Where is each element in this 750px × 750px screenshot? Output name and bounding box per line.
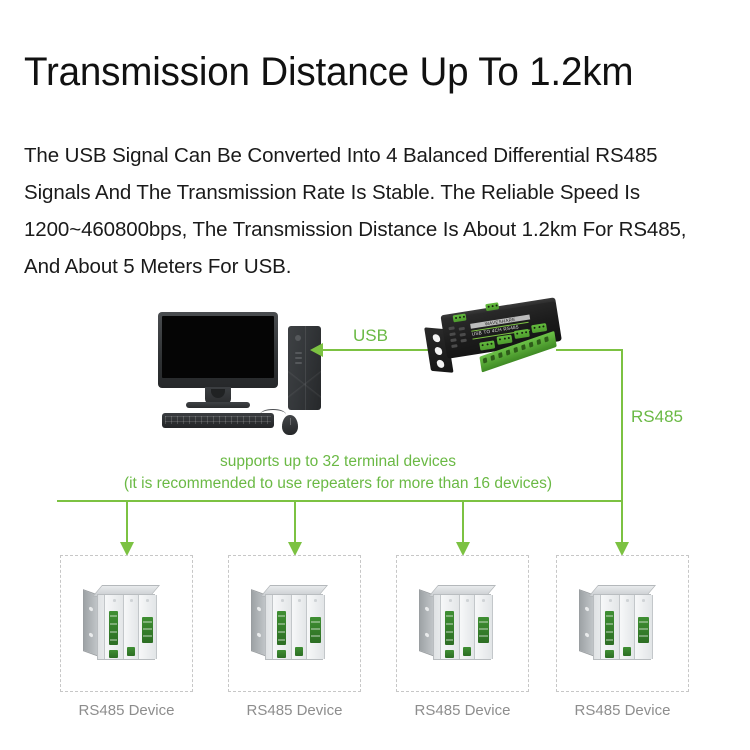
rs485-bus-line: [57, 500, 623, 502]
page-title: Transmission Distance Up To 1.2km: [24, 48, 709, 96]
module-front-face: [593, 594, 651, 660]
bus-note-line-2: (it is recommended to use repeaters for …: [58, 473, 618, 495]
device-box-2: [228, 555, 361, 692]
pc-tower-icon: [288, 326, 321, 410]
rs485-label: RS485: [631, 407, 683, 427]
module-card-1: [600, 595, 621, 659]
device-drop-wire-4: [621, 500, 623, 544]
tower-port-2: [295, 357, 302, 359]
module-connector-green-3: [463, 647, 471, 656]
module-card-3: [634, 595, 653, 659]
module-connector-green-4: [310, 617, 321, 643]
paragraph-line-2: Signals And The Transmission Rate Is Sta…: [24, 174, 740, 211]
module-card-1: [272, 595, 293, 659]
module-screw: [146, 599, 149, 602]
module-card-1: [440, 595, 461, 659]
module-screw: [466, 599, 469, 602]
module-connector-green-1: [605, 611, 614, 645]
device-drop-arrow-3: [456, 542, 470, 556]
device-caption-3: RS485 Device: [396, 702, 529, 719]
module-connector-green-2: [605, 650, 614, 658]
monitor-icon: [158, 312, 278, 388]
keyboard-keys: [165, 416, 271, 424]
module-front-face: [433, 594, 491, 660]
rs485-wire-vertical: [621, 349, 623, 501]
rs485-wire-top: [556, 349, 623, 351]
device-drop-wire-2: [294, 500, 296, 544]
device-caption-4: RS485 Device: [556, 702, 689, 719]
device-caption-1: RS485 Device: [60, 702, 193, 719]
module-connector-green-3: [127, 647, 135, 656]
usb-arrow-icon: [310, 343, 323, 357]
module-connector-green-1: [277, 611, 286, 645]
paragraph-line-4: And About 5 Meters For USB.: [24, 248, 740, 285]
computer-illustration: [148, 312, 323, 427]
monitor-screen: [162, 316, 274, 378]
device-box-3: [396, 555, 529, 692]
module-screw: [609, 599, 612, 602]
module-connector-green-1: [445, 611, 454, 645]
module-card-3: [138, 595, 157, 659]
module-connector-green-4: [142, 617, 153, 643]
bus-note-line-1: supports up to 32 terminal devices: [58, 451, 618, 473]
usb-wire: [322, 349, 432, 351]
module-screw: [626, 599, 629, 602]
usb-label: USB: [353, 326, 388, 346]
module-screw: [298, 599, 301, 602]
device-drop-wire-1: [126, 500, 128, 544]
module-card-3: [306, 595, 325, 659]
module-front-face: [97, 594, 155, 660]
tower-chevron-detail: [288, 368, 321, 402]
module-connector-green-2: [277, 650, 286, 658]
tower-power-led: [295, 335, 301, 341]
mouse-icon: [282, 415, 298, 435]
device-caption-2: RS485 Device: [228, 702, 361, 719]
infographic-page: Transmission Distance Up To 1.2km The US…: [0, 0, 750, 750]
paragraph-line-1: The USB Signal Can Be Converted Into 4 B…: [24, 137, 740, 174]
module-connector-green-4: [478, 617, 489, 643]
module-connector-green-2: [109, 650, 118, 658]
module-card-3: [474, 595, 493, 659]
monitor-base: [186, 402, 250, 408]
paragraph-line-3: 1200~460800bps, The Transmission Distanc…: [24, 211, 740, 248]
keyboard-icon: [162, 413, 274, 428]
module-front-face: [265, 594, 323, 660]
mouse-cord: [260, 409, 286, 420]
module-screw: [449, 599, 452, 602]
module-screw: [281, 599, 284, 602]
module-screw: [130, 599, 133, 602]
device-box-4: [556, 555, 689, 692]
module-connector-green-4: [638, 617, 649, 643]
device-drop-arrow-1: [120, 542, 134, 556]
module-connector-green-2: [445, 650, 454, 658]
usb-to-rs485-converter: WAVESHARE USB TO 4CH RS485: [423, 295, 584, 397]
module-connector-green-3: [295, 647, 303, 656]
device-drop-arrow-2: [288, 542, 302, 556]
device-drop-arrow-4: [615, 542, 629, 556]
module-screw: [314, 599, 317, 602]
module-screw: [113, 599, 116, 602]
tower-port-3: [295, 362, 302, 364]
tower-port-1: [295, 352, 302, 354]
module-screw: [482, 599, 485, 602]
device-box-1: [60, 555, 193, 692]
connection-diagram: USB WAVESHARE USB TO 4CH RS485: [0, 290, 750, 750]
module-connector-green-3: [623, 647, 631, 656]
module-card-1: [104, 595, 125, 659]
device-drop-wire-3: [462, 500, 464, 544]
description-paragraph: The USB Signal Can Be Converted Into 4 B…: [24, 137, 740, 285]
module-connector-green-1: [109, 611, 118, 645]
module-screw: [642, 599, 645, 602]
